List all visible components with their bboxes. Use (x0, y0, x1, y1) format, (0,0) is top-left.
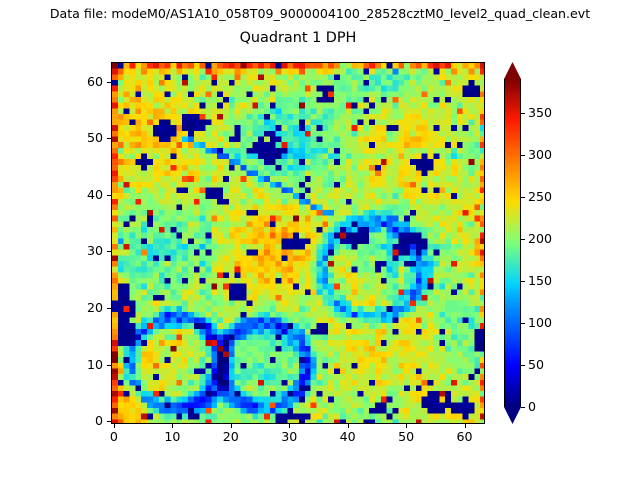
colorbar-tick-label: 50 (528, 358, 544, 372)
y-tick-label: 60 (69, 75, 103, 89)
colorbar[interactable] (504, 62, 521, 424)
colorbar-tick-mark (521, 239, 525, 240)
colorbar-gradient (504, 79, 521, 407)
dph-heatmap-image[interactable] (112, 63, 485, 424)
x-tick-mark (289, 424, 290, 428)
x-tick-label: 40 (340, 430, 356, 444)
y-tick-mark (107, 421, 111, 422)
y-tick-label: 50 (69, 131, 103, 145)
y-tick-mark (107, 82, 111, 83)
y-tick-label: 40 (69, 188, 103, 202)
y-tick-mark (107, 251, 111, 252)
x-tick-label: 20 (223, 430, 239, 444)
y-tick-label: 30 (69, 244, 103, 258)
colorbar-tick-label: 250 (528, 190, 552, 204)
y-tick-mark (107, 365, 111, 366)
colorbar-tick-mark (521, 323, 525, 324)
data-file-label: Data file: modeM0/AS1A10_058T09_90000041… (0, 7, 640, 21)
x-tick-mark (406, 424, 407, 428)
colorbar-tick-mark (521, 407, 525, 408)
colorbar-extend-bottom-arrow-icon (504, 407, 521, 424)
y-tick-label: 0 (69, 414, 103, 428)
x-tick-mark (114, 424, 115, 428)
x-tick-mark (465, 424, 466, 428)
colorbar-tick-mark (521, 365, 525, 366)
x-tick-label: 60 (457, 430, 473, 444)
colorbar-gradient-fill (505, 79, 520, 407)
x-tick-mark (231, 424, 232, 428)
colorbar-tick-mark (521, 155, 525, 156)
y-tick-mark (107, 195, 111, 196)
colorbar-tick-label: 100 (528, 316, 552, 330)
x-tick-label: 50 (398, 430, 414, 444)
x-tick-label: 10 (164, 430, 180, 444)
colorbar-tick-mark (521, 197, 525, 198)
plot-title: Quadrant 1 DPH (111, 30, 485, 47)
heatmap-axes[interactable] (111, 62, 485, 424)
y-tick-mark (107, 138, 111, 139)
matplotlib-figure: Data file: modeM0/AS1A10_058T09_90000041… (0, 0, 640, 480)
colorbar-tick-mark (521, 113, 525, 114)
y-tick-mark (107, 308, 111, 309)
y-tick-label: 10 (69, 358, 103, 372)
colorbar-tick-label: 150 (528, 274, 552, 288)
colorbar-tick-label: 0 (528, 400, 536, 414)
x-tick-mark (172, 424, 173, 428)
colorbar-extend-top-arrow-icon (504, 62, 521, 79)
colorbar-tick-label: 200 (528, 232, 552, 246)
x-tick-label: 30 (281, 430, 297, 444)
y-tick-label: 20 (69, 301, 103, 315)
colorbar-tick-mark (521, 281, 525, 282)
x-tick-label: 0 (110, 430, 118, 444)
colorbar-tick-label: 300 (528, 148, 552, 162)
x-tick-mark (348, 424, 349, 428)
colorbar-tick-label: 350 (528, 106, 552, 120)
